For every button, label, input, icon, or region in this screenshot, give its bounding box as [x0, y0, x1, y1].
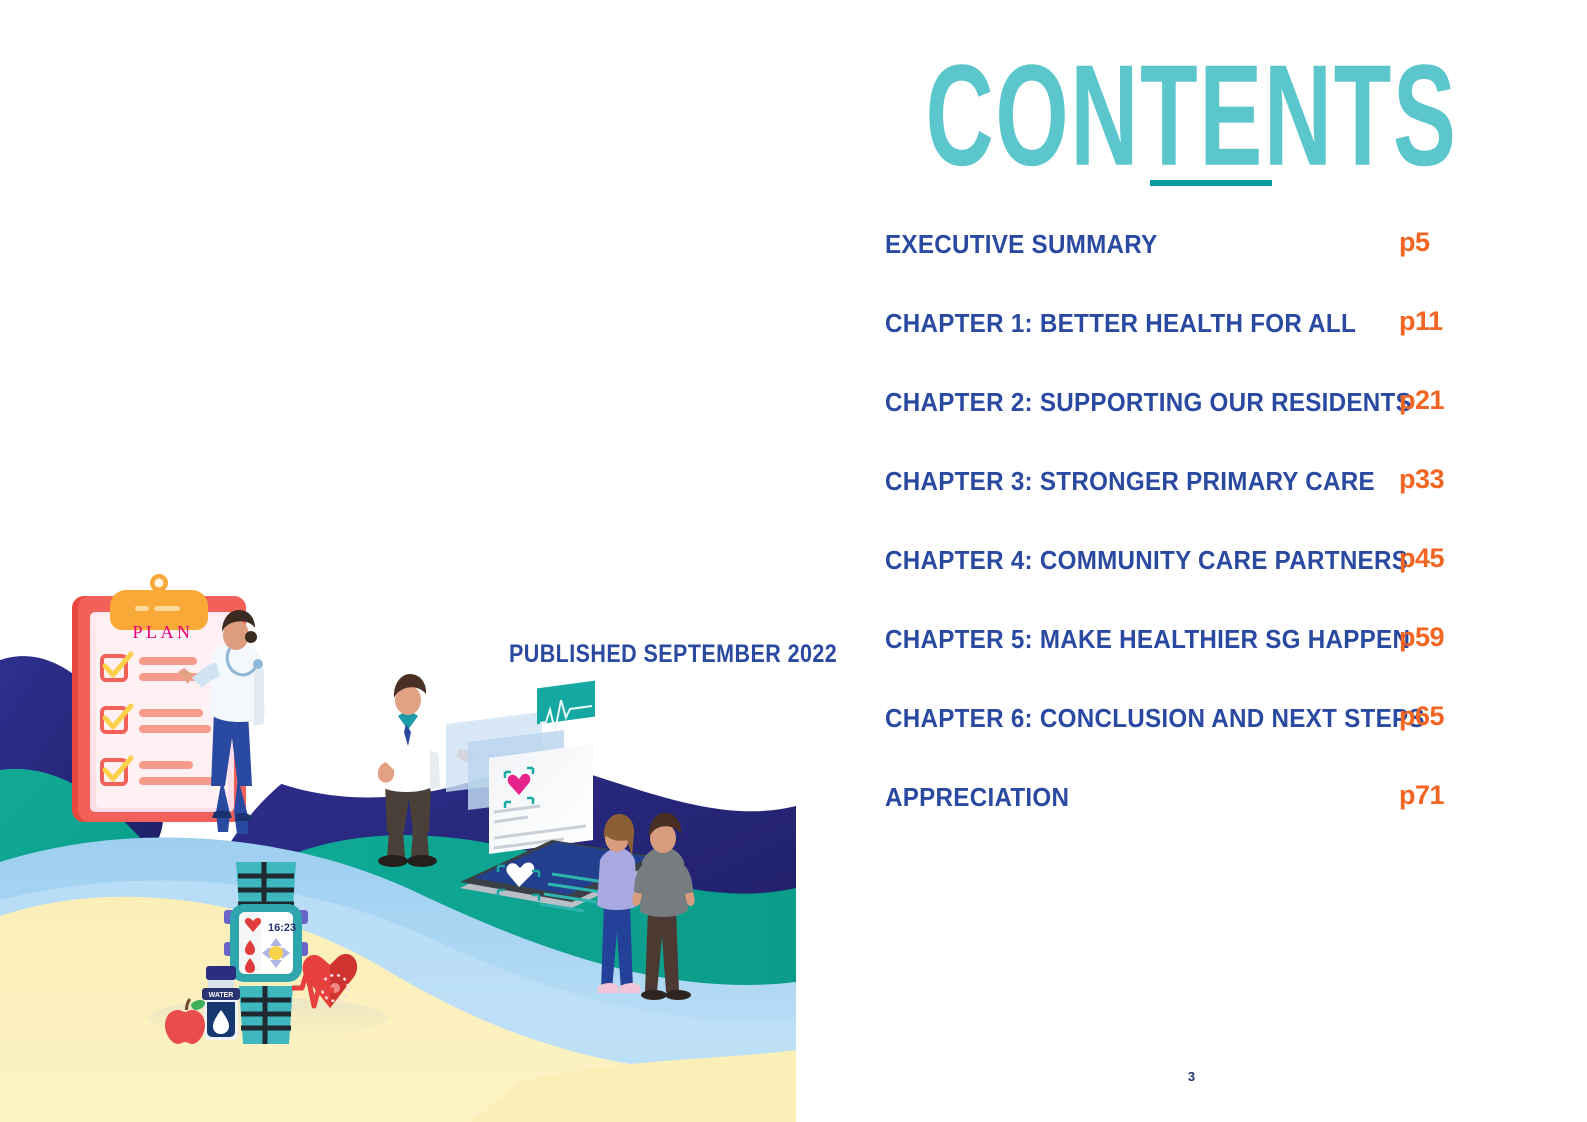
list-item[interactable]: APPRECIATION p71	[885, 782, 1545, 861]
toc-entry-label: EXECUTIVE SUMMARY	[885, 229, 1158, 260]
list-item[interactable]: EXECUTIVE SUMMARY p5	[885, 229, 1545, 308]
toc-entry-label: APPRECIATION	[885, 782, 1069, 813]
toc-entry-label: CHAPTER 4: COMMUNITY CARE PARTNERS	[885, 545, 1408, 576]
page-title: CONTENTS	[875, 44, 1508, 188]
toc-entry-label: CHAPTER 2: SUPPORTING OUR RESIDENTS	[885, 387, 1412, 418]
toc-entry-page: p33	[1399, 464, 1444, 495]
list-item[interactable]: CHAPTER 1: BETTER HEALTH FOR ALL p11	[885, 308, 1545, 387]
contents-page: PLAN	[0, 0, 1587, 1122]
clipboard-plan-title: PLAN	[132, 622, 193, 642]
toc-entry-page: p45	[1399, 543, 1444, 574]
toc-entry-page: p11	[1399, 306, 1443, 337]
list-item[interactable]: CHAPTER 4: COMMUNITY CARE PARTNERS p45	[885, 545, 1545, 624]
title-divider	[1150, 180, 1272, 186]
list-item[interactable]: CHAPTER 5: MAKE HEALTHIER SG HAPPEN p59	[885, 624, 1545, 703]
published-date-label: PUBLISHED SEPTEMBER 2022	[509, 640, 837, 669]
bottle-label: WATER	[209, 992, 234, 999]
illustration-svg: PLAN	[0, 0, 796, 1122]
toc-entry-page: p65	[1399, 701, 1444, 732]
toc-entry-label: CHAPTER 3: STRONGER PRIMARY CARE	[885, 466, 1375, 497]
water-bottle-illustration: WATER	[202, 966, 240, 1040]
list-item[interactable]: CHAPTER 6: CONCLUSION AND NEXT STEPS p65	[885, 703, 1545, 782]
list-item[interactable]: CHAPTER 3: STRONGER PRIMARY CARE p33	[885, 466, 1545, 545]
list-item[interactable]: CHAPTER 2: SUPPORTING OUR RESIDENTS p21	[885, 387, 1545, 466]
toc-entry-page: p71	[1399, 780, 1444, 811]
toc-entry-page: p21	[1399, 385, 1444, 416]
page-number: 3	[796, 1069, 1587, 1084]
cover-illustration: PLAN	[0, 0, 796, 1122]
toc-entry-label: CHAPTER 1: BETTER HEALTH FOR ALL	[885, 308, 1356, 339]
toc-entry-page: p5	[1399, 227, 1430, 258]
toc-entry-label: CHAPTER 5: MAKE HEALTHIER SG HAPPEN	[885, 624, 1410, 655]
toc-entry-page: p59	[1399, 622, 1444, 653]
table-of-contents-list: EXECUTIVE SUMMARY p5 CHAPTER 1: BETTER H…	[885, 229, 1545, 861]
watch-time: 16:23	[268, 922, 296, 934]
toc-entry-label: CHAPTER 6: CONCLUSION AND NEXT STEPS	[885, 703, 1425, 734]
contents-column: CONTENTS EXECUTIVE SUMMARY p5 CHAPTER 1:…	[796, 0, 1587, 1122]
